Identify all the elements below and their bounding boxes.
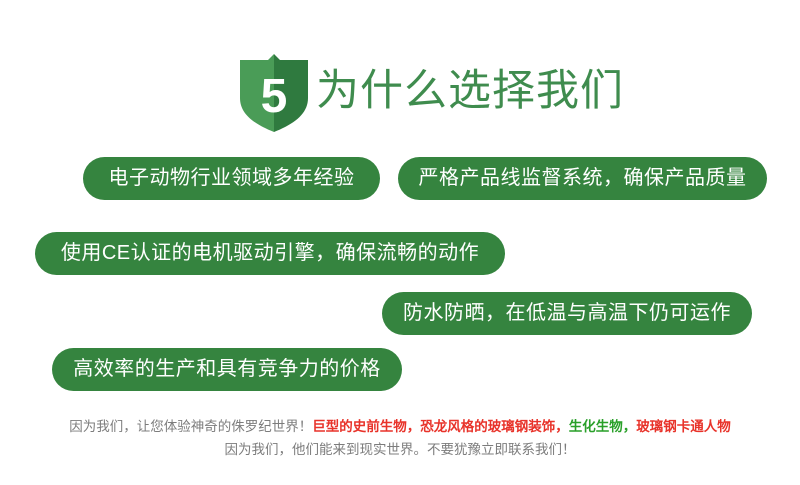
shield-icon: 5 bbox=[238, 52, 310, 134]
page-title: 为什么选择我们 bbox=[316, 60, 624, 122]
footer-line1-highlight-red-2: 玻璃钢卡通人物 bbox=[636, 419, 731, 434]
feature-pill-weatherproof[interactable]: 防水防晒，在低温与高温下仍可运作 bbox=[382, 292, 752, 335]
feature-pill-quality-control[interactable]: 严格产品线监督系统，确保产品质量 bbox=[398, 157, 767, 200]
badge-number-glyph: 5 bbox=[261, 70, 288, 123]
footer-line1-highlight-red-1: 巨型的史前生物，恐龙风格的玻璃钢装饰， bbox=[312, 419, 569, 434]
footer-section: 因为我们，让您体验神奇的侏罗纪世界！巨型的史前生物，恐龙风格的玻璃钢装饰，生化生… bbox=[0, 415, 800, 461]
feature-pill-ce-motor[interactable]: 使用CE认证的电机驱动引擎，确保流畅的动作 bbox=[35, 232, 505, 275]
footer-line-2: 因为我们，他们能来到现实世界。不要犹豫立即联系我们！ bbox=[0, 438, 800, 461]
footer-line-1: 因为我们，让您体验神奇的侏罗纪世界！巨型的史前生物，恐龙风格的玻璃钢装饰，生化生… bbox=[0, 415, 800, 438]
footer-line2-text: 因为我们，他们能来到现实世界。不要犹豫立即联系我们！ bbox=[225, 442, 576, 457]
header-section: 5 为什么选择我们 bbox=[0, 26, 800, 112]
footer-line1-intro: 因为我们，让您体验神奇的侏罗纪世界！ bbox=[69, 419, 312, 434]
feature-pill-efficiency-price[interactable]: 高效率的生产和具有竞争力的价格 bbox=[52, 348, 402, 391]
footer-line1-highlight-green: 生化生物， bbox=[569, 419, 637, 434]
feature-pill-experience[interactable]: 电子动物行业领域多年经验 bbox=[83, 157, 380, 200]
